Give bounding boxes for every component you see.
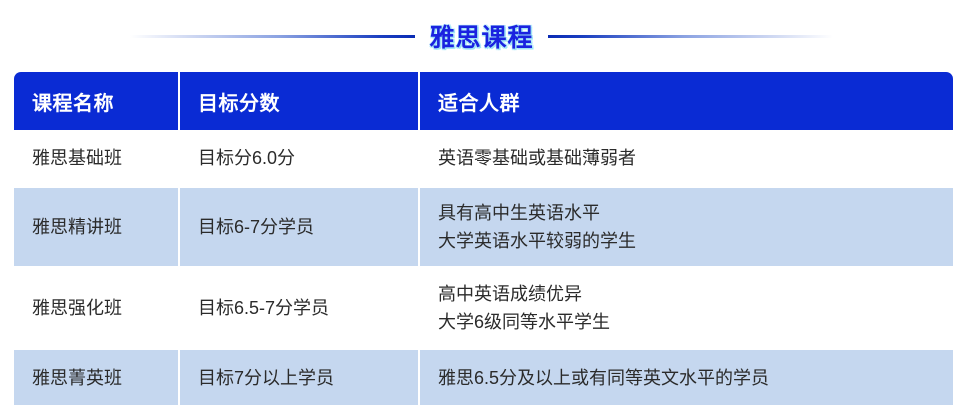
cell-course-name: 雅思基础班 bbox=[14, 130, 178, 185]
cell-target-score: 目标6.5-7分学员 bbox=[178, 269, 418, 347]
cell-audience: 具有高中生英语水平 大学英语水平较弱的学生 bbox=[418, 188, 953, 266]
cell-target-score: 目标6-7分学员 bbox=[178, 188, 418, 266]
cell-course-name: 雅思精讲班 bbox=[14, 188, 178, 266]
audience-line: 雅思6.5分及以上或有同等英文水平的学员 bbox=[438, 364, 953, 392]
section-title: 雅思课程 bbox=[0, 0, 963, 72]
audience-line: 英语零基础或基础薄弱者 bbox=[438, 144, 953, 172]
table-row: 雅思强化班 目标6.5-7分学员 高中英语成绩优异 大学6级同等水平学生 bbox=[14, 269, 953, 347]
audience-line: 大学6级同等水平学生 bbox=[438, 308, 953, 336]
page-title: 雅思课程 bbox=[429, 18, 533, 54]
cell-audience: 雅思6.5分及以上或有同等英文水平的学员 bbox=[418, 350, 953, 405]
cell-course-name: 雅思强化班 bbox=[14, 269, 178, 347]
audience-line: 高中英语成绩优异 bbox=[438, 280, 953, 308]
cell-audience: 英语零基础或基础薄弱者 bbox=[418, 130, 953, 185]
audience-line: 大学英语水平较弱的学生 bbox=[438, 227, 953, 255]
cell-target-score: 目标分6.0分 bbox=[178, 130, 418, 185]
table-row: 雅思精讲班 目标6-7分学员 具有高中生英语水平 大学英语水平较弱的学生 bbox=[14, 188, 953, 266]
course-table: 课程名称 目标分数 适合人群 雅思基础班 目标分6.0分 英语零基础或基础薄弱者… bbox=[14, 72, 953, 405]
table-header-row: 课程名称 目标分数 适合人群 bbox=[14, 72, 953, 130]
table-row: 雅思菁英班 目标7分以上学员 雅思6.5分及以上或有同等英文水平的学员 bbox=[14, 350, 953, 405]
title-rule-left bbox=[130, 35, 415, 38]
column-header-audience: 适合人群 bbox=[418, 72, 953, 130]
cell-course-name: 雅思菁英班 bbox=[14, 350, 178, 405]
cell-audience: 高中英语成绩优异 大学6级同等水平学生 bbox=[418, 269, 953, 347]
column-header-target-score: 目标分数 bbox=[178, 72, 418, 130]
column-header-course-name: 课程名称 bbox=[14, 72, 178, 130]
course-table-container: 课程名称 目标分数 适合人群 雅思基础班 目标分6.0分 英语零基础或基础薄弱者… bbox=[14, 72, 953, 405]
table-row: 雅思基础班 目标分6.0分 英语零基础或基础薄弱者 bbox=[14, 130, 953, 185]
audience-line: 具有高中生英语水平 bbox=[438, 199, 953, 227]
cell-target-score: 目标7分以上学员 bbox=[178, 350, 418, 405]
title-rule-right bbox=[548, 35, 833, 38]
table-header: 课程名称 目标分数 适合人群 bbox=[14, 72, 953, 130]
table-body: 雅思基础班 目标分6.0分 英语零基础或基础薄弱者 雅思精讲班 目标6-7分学员… bbox=[14, 130, 953, 405]
